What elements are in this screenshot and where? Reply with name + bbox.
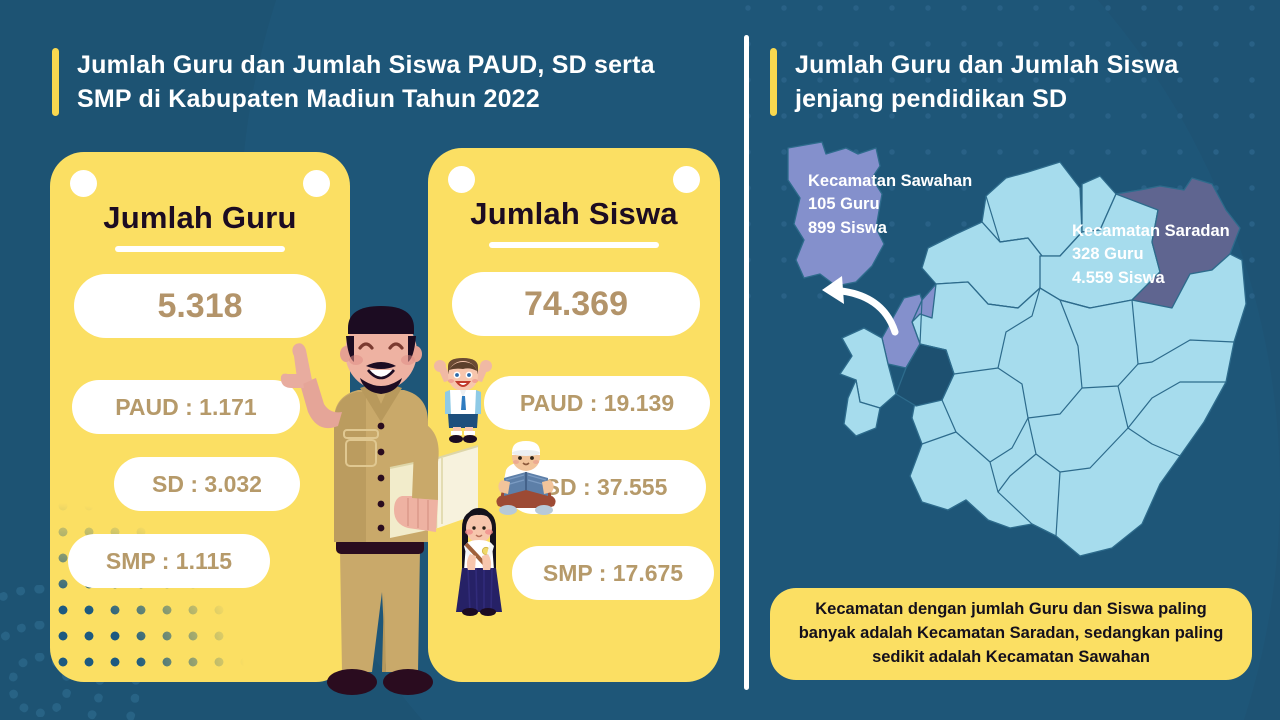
title-accent-bar xyxy=(770,48,777,116)
callout-saradan-teachers: 328 Guru xyxy=(1072,243,1230,266)
card-jumlah-guru: Jumlah Guru 5.318 PAUD : 1.171 SD : 3.03… xyxy=(50,152,350,682)
summary-caption-box: Kecamatan dengan jumlah Guru dan Siswa p… xyxy=(770,588,1252,680)
callout-sawahan-teachers: 105 Guru xyxy=(808,193,972,216)
callout-saradan-district: Kecamatan Saradan xyxy=(1072,220,1230,243)
right-panel-title-text: Jumlah Guru dan Jumlah Siswa jenjang pen… xyxy=(795,48,1250,116)
card-siswa-row-paud: PAUD : 19.139 xyxy=(484,376,710,430)
card-guru-heading: Jumlah Guru xyxy=(50,200,350,236)
card-guru-total-value: 5.318 xyxy=(74,274,326,338)
card-guru-row-paud: PAUD : 1.171 xyxy=(72,380,300,434)
callout-saradan-students: 4.559 Siswa xyxy=(1072,267,1230,290)
card-jumlah-siswa: Jumlah Siswa 74.369 PAUD : 19.139 SD : 3… xyxy=(428,148,720,682)
infographic-canvas: Jumlah Guru dan Jumlah Siswa PAUD, SD se… xyxy=(0,0,1280,720)
map-callout-sawahan: Kecamatan Sawahan 105 Guru 899 Siswa xyxy=(808,170,972,240)
title-accent-bar xyxy=(52,48,59,116)
card-heading-rule xyxy=(489,242,659,248)
summary-caption-text: Kecamatan dengan jumlah Guru dan Siswa p… xyxy=(786,598,1236,670)
card-guru-row-sd: SD : 3.032 xyxy=(114,457,300,511)
left-panel-title: Jumlah Guru dan Jumlah Siswa PAUD, SD se… xyxy=(52,48,712,116)
panel-divider xyxy=(744,35,749,690)
card-siswa-row-sd: SD : 37.555 xyxy=(506,460,706,514)
left-panel-title-text: Jumlah Guru dan Jumlah Siswa PAUD, SD se… xyxy=(77,48,712,116)
card-guru-row-smp: SMP : 1.115 xyxy=(68,534,270,588)
punch-hole-icon xyxy=(303,170,330,197)
card-siswa-heading: Jumlah Siswa xyxy=(428,196,720,232)
callout-sawahan-district: Kecamatan Sawahan xyxy=(808,170,972,193)
callout-sawahan-students: 899 Siswa xyxy=(808,217,972,240)
right-panel-title: Jumlah Guru dan Jumlah Siswa jenjang pen… xyxy=(770,48,1250,116)
punch-hole-icon xyxy=(673,166,700,193)
card-siswa-row-smp: SMP : 17.675 xyxy=(512,546,714,600)
card-heading-rule xyxy=(115,246,285,252)
punch-hole-icon xyxy=(448,166,475,193)
punch-hole-icon xyxy=(70,170,97,197)
card-siswa-total-value: 74.369 xyxy=(452,272,700,336)
map-callout-saradan: Kecamatan Saradan 328 Guru 4.559 Siswa xyxy=(1072,220,1230,290)
